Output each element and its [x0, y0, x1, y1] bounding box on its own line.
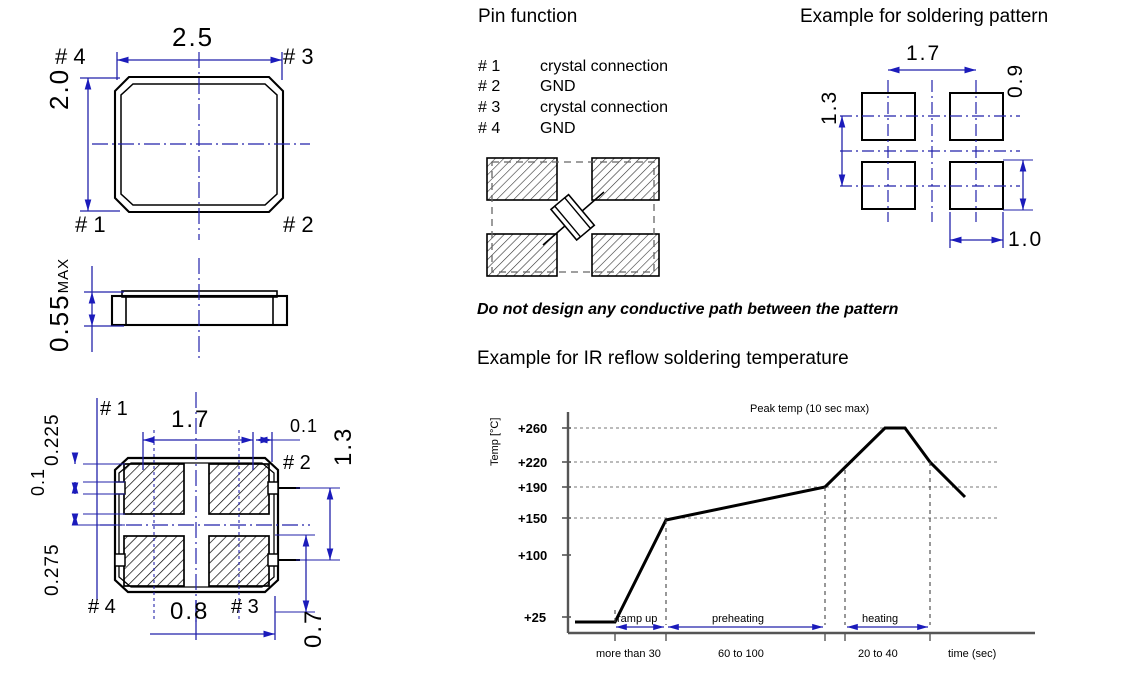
- datasheet-drawing-page: # 4 # 3 # 1 # 2 2.5 2.0 0.55MAX # 1 # 2 …: [0, 0, 1126, 675]
- bottom-view-pin-label-1: # 1: [100, 398, 128, 421]
- internal-crystal-diagram: [487, 158, 659, 276]
- chart-phase-duration-ramp-up: more than 30: [596, 648, 661, 660]
- chart-ytick-150: +150: [518, 511, 547, 526]
- chart-peak-annotation: Peak temp (10 sec max): [750, 403, 869, 415]
- bottom-view-pad-width-dimension: [275, 535, 315, 612]
- soldering-pitch-label: 1.3: [818, 90, 842, 125]
- chart-phase-label-preheating: preheating: [712, 613, 764, 625]
- top-view-pin-label-2: # 2: [283, 212, 314, 238]
- chart-ytick-190: +190: [518, 480, 547, 495]
- chart-phase-label-heating: heating: [862, 613, 898, 625]
- pin-row-2-function: GND: [540, 78, 576, 96]
- soldering-pattern-title: Example for soldering pattern: [800, 6, 1048, 28]
- pin-row-3-function: crystal connection: [540, 99, 668, 117]
- bottom-view-pad-pitch-dimension: [296, 488, 340, 560]
- bottom-view-pad-pitch-label: 1.3: [330, 427, 358, 466]
- side-view-height-group: 0.55MAX: [44, 258, 75, 352]
- chart-y-axis-label: Temp [°C]: [489, 418, 501, 466]
- chart-ytick-25: +25: [524, 610, 546, 625]
- bottom-view-top-offset-label: 0.225: [42, 413, 64, 466]
- no-conductive-path-note: Do not design any conductive path betwee…: [477, 301, 898, 319]
- reflow-chart: [562, 412, 1035, 641]
- side-view-height-label: 0.55: [44, 293, 74, 352]
- soldering-pattern-centerlines: [840, 80, 1020, 222]
- soldering-span-label: 1.7: [906, 42, 941, 66]
- bottom-view-vertical-dimensions: [75, 398, 125, 600]
- pin-row-2-number: # 2: [478, 78, 500, 96]
- soldering-pattern-pad-height-dimension: [1003, 160, 1033, 210]
- reflow-profile-curve: [575, 428, 965, 622]
- bottom-view-pad-offset-label: 0.8: [170, 598, 209, 626]
- chart-phase-duration-preheating: 60 to 100: [718, 648, 764, 660]
- chart-phase-label-ramp-up: ramp up: [617, 613, 657, 625]
- pin-row-4-number: # 4: [478, 120, 500, 138]
- top-view-width-label: 2.5: [172, 22, 214, 53]
- top-view-pin-label-1: # 1: [75, 212, 106, 238]
- bottom-view-pad-width-label: 0.7: [300, 609, 328, 648]
- pin-row-4-function: GND: [540, 120, 576, 138]
- top-view-pin-label-4: # 4: [55, 44, 86, 70]
- soldering-pad-width-label: 1.0: [1008, 228, 1043, 252]
- side-view-height-suffix: MAX: [55, 258, 72, 294]
- pin-function-title: Pin function: [478, 6, 577, 28]
- bottom-view-pin-label-4: # 4: [88, 596, 116, 619]
- bottom-view-center-offset-label: 0.275: [42, 543, 64, 596]
- side-view-height-dimension: [84, 266, 124, 352]
- chart-ytick-100: +100: [518, 548, 547, 563]
- chart-phase-duration-heating: 20 to 40: [858, 648, 898, 660]
- bottom-view-pin-label-2: # 2: [283, 452, 311, 475]
- top-view-height-label: 2.0: [44, 68, 75, 110]
- reflow-title: Example for IR reflow soldering temperat…: [477, 348, 849, 370]
- pin-row-1-number: # 1: [478, 58, 500, 76]
- chart-ytick-260: +260: [518, 421, 547, 436]
- top-view-pin-label-3: # 3: [283, 44, 314, 70]
- soldering-pad-height-label: 0.9: [1004, 63, 1028, 98]
- bottom-view-pin-label-3: # 3: [231, 596, 259, 619]
- bottom-view-edge-gap-label: 0.1: [290, 416, 318, 437]
- chart-x-axis-label: time (sec): [948, 648, 996, 660]
- bottom-view-notch-label: 0.1: [28, 468, 49, 496]
- chart-ytick-220: +220: [518, 455, 547, 470]
- pin-row-1-function: crystal connection: [540, 58, 668, 76]
- bottom-view-pad-span-label: 1.7: [171, 406, 210, 434]
- pin-row-3-number: # 3: [478, 99, 500, 117]
